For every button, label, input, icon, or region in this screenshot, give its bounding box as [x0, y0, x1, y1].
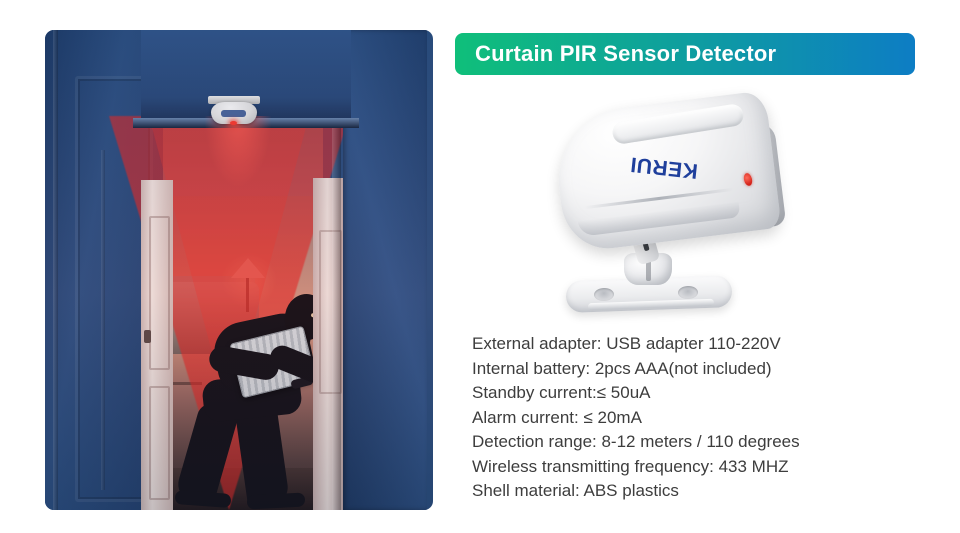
- spec-item: Detection range: 8-12 meters / 110 degre…: [472, 430, 942, 455]
- product-info-panel: Curtain PIR Sensor Detector KERUI Extern…: [455, 0, 960, 533]
- door-frame-right-face: [343, 30, 427, 510]
- spec-item: External adapter: USB adapter 110-220V: [472, 332, 942, 357]
- door-frame-left-trim: [53, 30, 58, 510]
- mounted-sensor-led-icon: [230, 121, 237, 125]
- door-latch: [144, 330, 151, 343]
- title-banner: Curtain PIR Sensor Detector: [455, 33, 915, 75]
- spec-item: Alarm current: ≤ 20mA: [472, 406, 942, 431]
- intruder-shoe-right: [247, 492, 306, 509]
- mounted-sensor-lens: [221, 110, 246, 117]
- spec-item: Internal battery: 2pcs AAA(not included): [472, 357, 942, 382]
- spec-item: Wireless transmitting frequency: 433 MHZ: [472, 455, 942, 480]
- spec-item: Standby current:≤ 50uA: [472, 381, 942, 406]
- spec-item: Shell material: ABS plastics: [472, 479, 942, 504]
- page-title: Curtain PIR Sensor Detector: [475, 43, 776, 65]
- pir-emitter-glow: [205, 116, 271, 186]
- intruder-shoe-left: [175, 490, 232, 508]
- door-panel-left-inset-bottom: [149, 386, 170, 500]
- door-panel-left-inset-top: [149, 216, 170, 370]
- scene-photo: [45, 30, 433, 510]
- product-photo: KERUI: [550, 95, 820, 310]
- specification-list: External adapter: USB adapter 110-220V I…: [472, 332, 942, 504]
- door-frame-left-panel-groove: [101, 150, 105, 490]
